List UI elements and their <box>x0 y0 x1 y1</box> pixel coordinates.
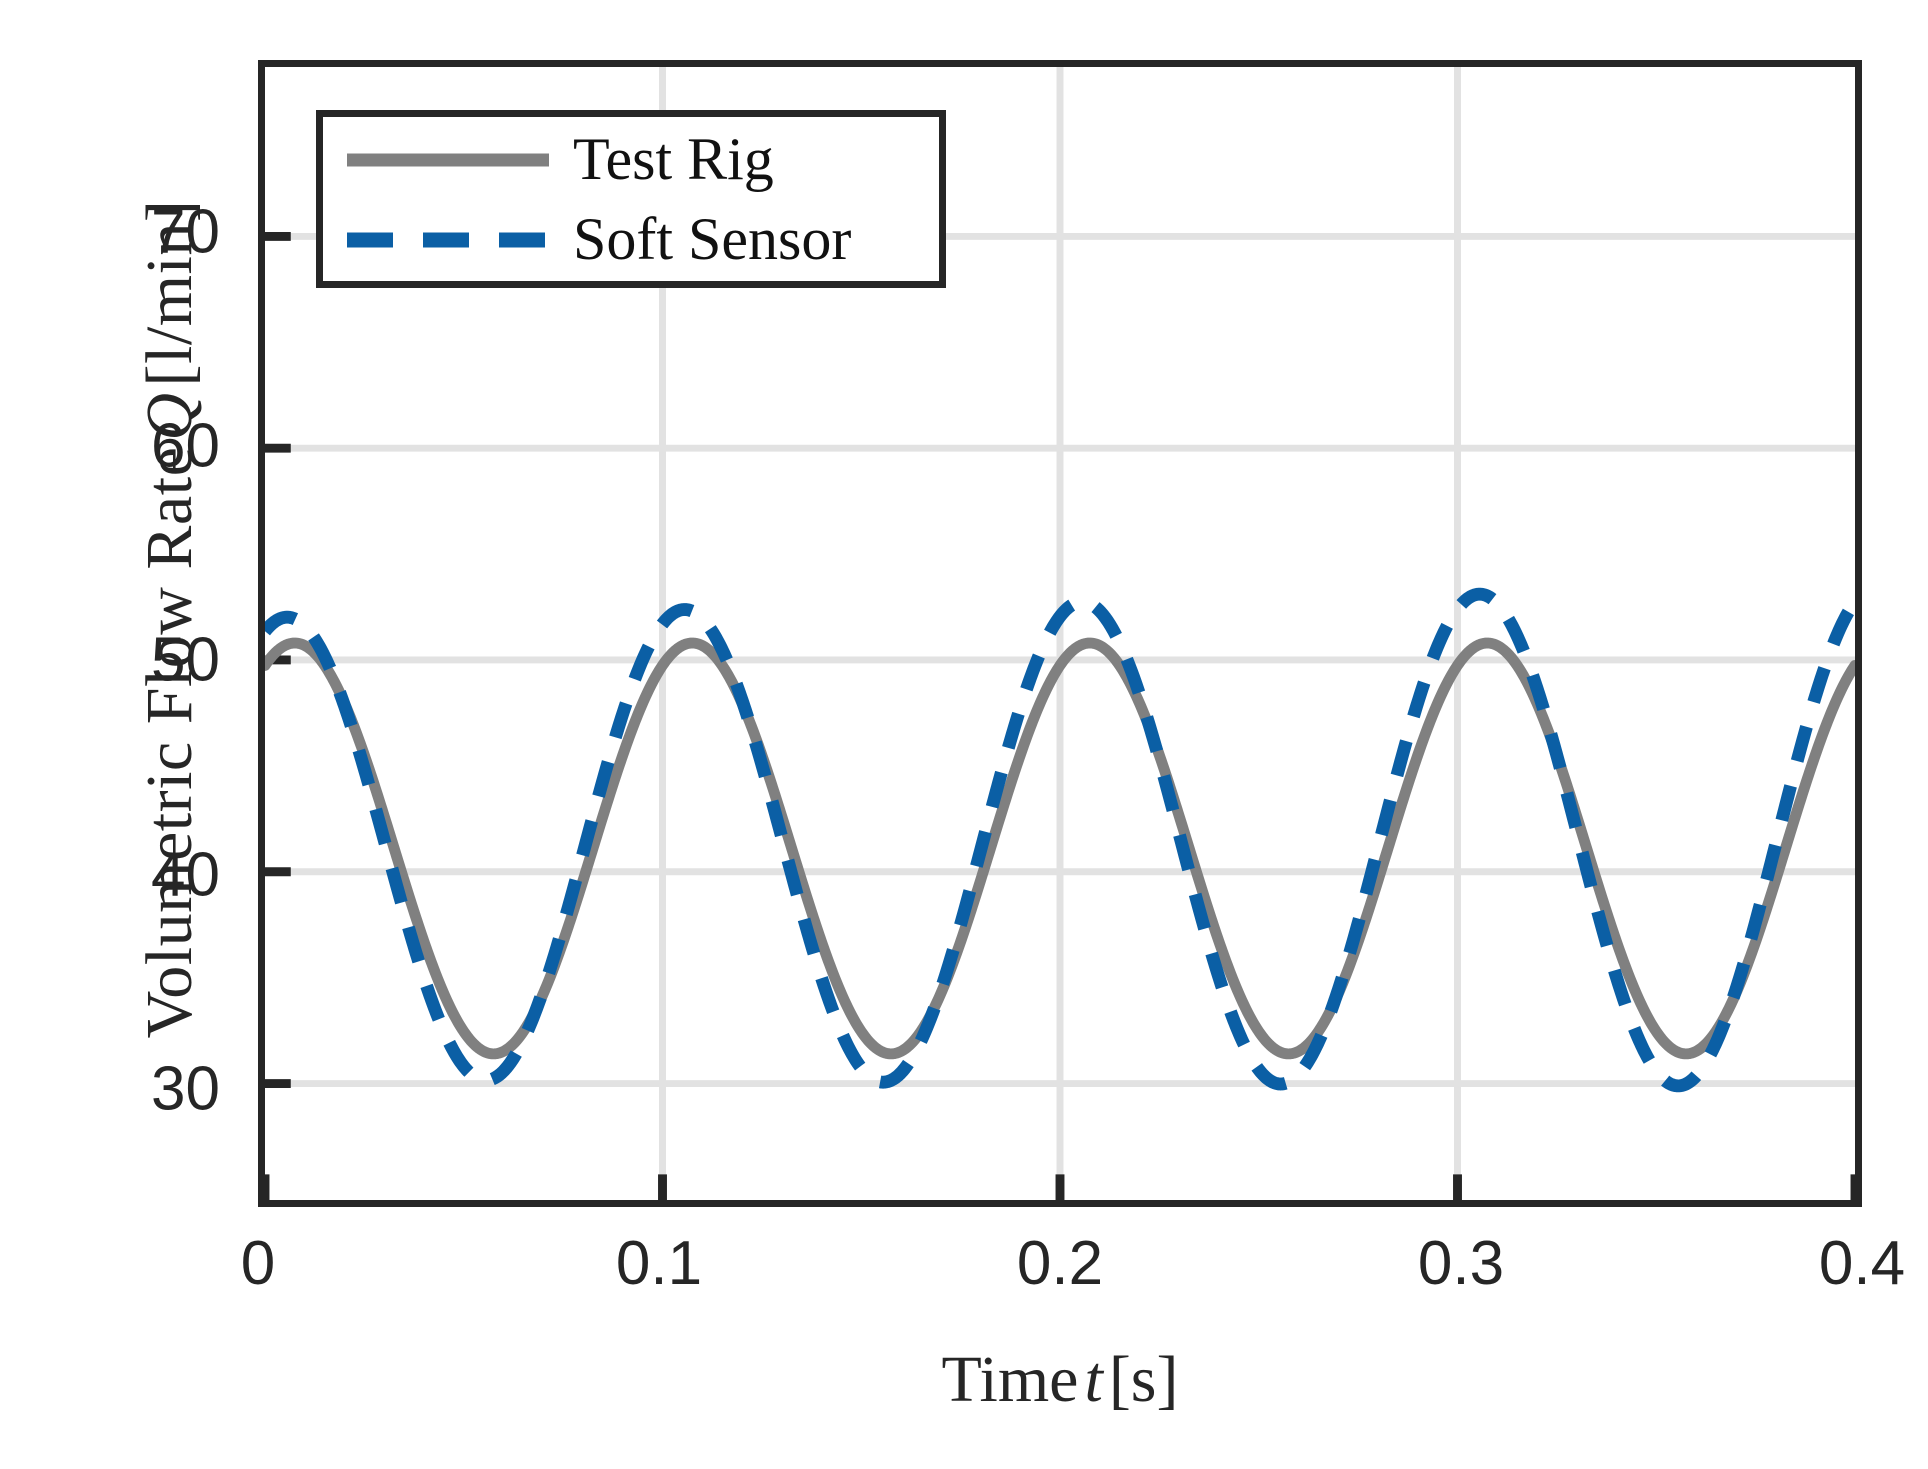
y-tick-label: 60 <box>40 410 220 481</box>
figure-root: Volumetric Flow Rate Q [l/min] 30 40 50 … <box>0 0 1928 1469</box>
x-tick-label: 0.1 <box>549 1228 769 1299</box>
y-tick-label: 30 <box>40 1054 220 1125</box>
x-tick-label: 0 <box>148 1228 368 1299</box>
x-axis-title-unit: [s] <box>1109 1342 1179 1418</box>
x-axis-title: Time t [s] <box>258 1330 1862 1430</box>
legend-item-soft-sensor: Soft Sensor <box>323 199 939 279</box>
legend-item-test-rig: Test Rig <box>323 119 939 199</box>
legend-swatch-solid-line <box>345 152 551 166</box>
y-axis-title: Volumetric Flow Rate Q [l/min] <box>125 119 215 1119</box>
legend-swatch-dashed-line <box>345 232 551 246</box>
x-axis-title-symbol: t <box>1078 1342 1108 1418</box>
x-tick-label: 0.4 <box>1752 1228 1928 1299</box>
legend-label: Test Rig <box>573 125 774 194</box>
x-axis-title-prefix: Time <box>942 1342 1079 1418</box>
y-axis-title-prefix: Volumetric Flow Rate <box>132 447 208 1039</box>
legend: Test Rig Soft Sensor <box>316 110 946 288</box>
y-tick-label: 40 <box>40 839 220 910</box>
y-tick-label: 70 <box>40 196 220 267</box>
x-tick-label: 0.2 <box>950 1228 1170 1299</box>
y-tick-label: 50 <box>40 625 220 696</box>
x-tick-label: 0.3 <box>1351 1228 1571 1299</box>
legend-label: Soft Sensor <box>573 205 851 274</box>
